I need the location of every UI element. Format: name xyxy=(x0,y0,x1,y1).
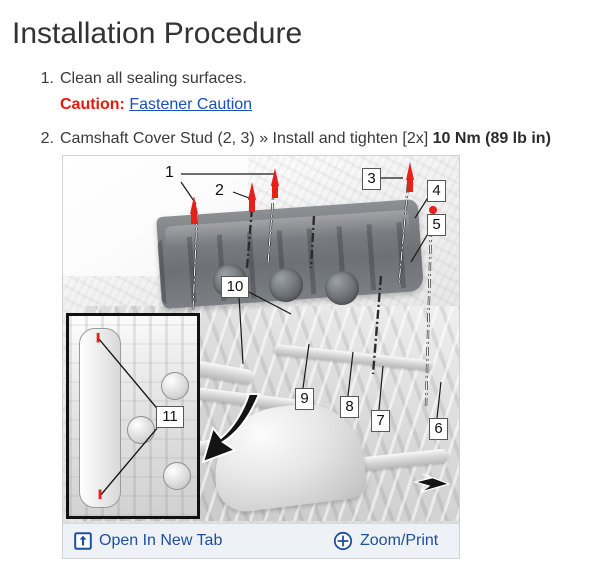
step-2-text: Camshaft Cover Stud (2, 3) » Install and… xyxy=(60,130,433,147)
callout-4: 4 xyxy=(427,180,446,202)
procedure-step-2: 2.Camshaft Cover Stud (2, 3) » Install a… xyxy=(36,128,602,149)
external-link-icon xyxy=(74,532,92,550)
callout-9: 9 xyxy=(295,388,314,410)
procedure-step-1: 1.Clean all sealing surfaces. xyxy=(36,68,602,89)
zoom-in-icon xyxy=(333,531,353,551)
engine-illustration[interactable]: 1 2 3 4 5 6 7 8 9 10 11 xyxy=(63,156,459,523)
figure-container: 1 2 3 4 5 6 7 8 9 10 11 Open In New Tab xyxy=(62,155,460,559)
step-2-number: 2. xyxy=(36,128,54,149)
callout-5: 5 xyxy=(427,214,446,236)
callout-3: 3 xyxy=(362,168,381,190)
open-in-new-tab-button[interactable]: Open In New Tab xyxy=(74,531,222,551)
page-root: Installation Procedure 1.Clean all seali… xyxy=(0,0,608,586)
callout-7: 7 xyxy=(371,410,390,432)
callout-6: 6 xyxy=(429,418,448,440)
callout-8: 8 xyxy=(340,396,359,418)
figure-toolbar: Open In New Tab Zoom/Print xyxy=(63,523,459,558)
procedure-step-list: 1.Clean all sealing surfaces. Caution: F… xyxy=(36,68,602,149)
step-1-text: Clean all sealing surfaces. xyxy=(60,70,247,87)
fastener-caution-link[interactable]: Fastener Caution xyxy=(129,96,252,113)
callout-2: 2 xyxy=(215,182,224,199)
caution-label: Caution: xyxy=(60,96,125,113)
torque-spec: 10 Nm (89 lb in) xyxy=(433,130,551,147)
cam-bearing-cap-2 xyxy=(269,268,303,302)
callout-1: 1 xyxy=(165,164,174,181)
step-1-number: 1. xyxy=(36,68,54,89)
caution-note: Caution: Fastener Caution xyxy=(60,94,602,115)
zoom-print-label: Zoom/Print xyxy=(360,531,438,551)
zoom-print-button[interactable]: Zoom/Print xyxy=(333,531,438,551)
callout-10: 10 xyxy=(221,276,249,298)
cam-bearing-cap-3 xyxy=(325,271,359,305)
callout-11: 11 xyxy=(156,406,184,428)
open-in-new-tab-label: Open In New Tab xyxy=(99,531,222,551)
page-title: Installation Procedure xyxy=(12,16,302,52)
